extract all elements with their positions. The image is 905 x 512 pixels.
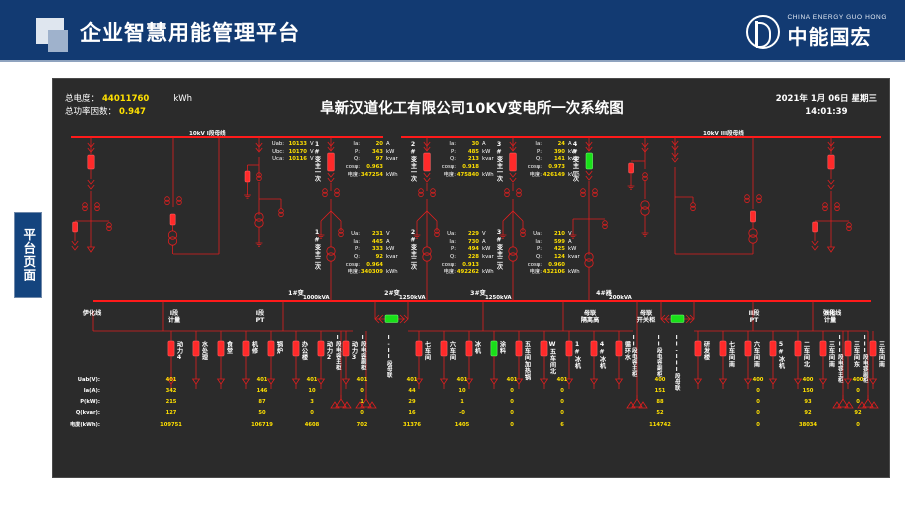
meter-secondary-1-key-5: 电度: [441,269,456,277]
meter-primary-2-value-4: 426149 [542,172,568,180]
row-header: 电度(kWh): [59,419,105,431]
row-header: Q(kvar): [59,408,105,419]
table-cell: 92 [833,408,883,419]
table-cell: 38034 [783,419,833,431]
meter-primary-0-unit-0: A [386,141,390,147]
table-cell: 92 [783,408,833,419]
meter-secondary-2-value-3: 124 [542,254,568,262]
meter-primary-1-value-0: 30 [456,141,482,149]
meter-secondary-0-key-5: 电度: [345,269,360,277]
table-cell: 401 [437,374,487,385]
table-cell: 10 [437,385,487,396]
table-cell: -0 [437,408,487,419]
meter-primary-0-key-2: Q: [345,156,360,164]
meter-primary-1-unit-0: A [482,141,486,147]
table-cell: 106719 [237,419,287,431]
table-cell: 400 [733,374,783,385]
meter-primary-2-unit-4: kWh [568,172,580,178]
label-t3-primary: 3#变主一次 [495,141,502,183]
table-cell: 6 [537,419,587,431]
table-cell: 92 [883,408,890,419]
meter-primary-1-row-1: P:485kW [441,149,494,157]
meter-primary-2-value-3: 0.973 [542,164,568,172]
table-cell: 93 [783,396,833,407]
meter-secondary-0-value-3: 92 [360,254,386,262]
feeder-label-section1-metering: I段计量 [153,311,195,324]
pt-meter-unit-1: V [310,149,314,155]
meter-secondary-1-unit-5: kWh [482,269,494,275]
meter-secondary-0-row-0: Ua:231V [345,231,398,239]
table-cell: 29 [387,396,437,407]
meter-secondary-1-unit-1: A [482,239,486,245]
feeder-measurements-table: Uab(V):401401401401401401401401400400400… [59,374,885,431]
meter-secondary-2-unit-1: A [568,239,572,245]
pt-meter-value-1: 10170 [284,149,310,157]
meter-secondary-2-row-3: Q:124kvar [527,254,580,262]
meter-primary-1-row-0: Ia:30A [441,141,494,149]
table-cell: 400 [587,374,733,385]
table-cell: 0 [337,408,387,419]
meter-secondary-1-key-0: Ua: [441,231,456,239]
meter-secondary-1-value-0: 229 [456,231,482,239]
table-cell: 88 [587,396,733,407]
table-cell: 401 [237,374,287,385]
brand-chinese-name: 中能国宏 [787,21,887,50]
table-cell: 0 [337,385,387,396]
meter-secondary-1-key-2: P: [441,246,456,254]
row-header: Uab(V): [59,374,105,385]
meter-secondary-1-value-5: 492262 [456,269,482,277]
meter-t1-primary: Ia:20AP:343kWQ:97kvarcosφ:0.963电度:347254… [345,141,398,179]
table-cell: 1405 [437,419,487,431]
meter-t1-secondary: Ua:231VIa:445AP:333kWQ:92kvarcosφ:0.964电… [345,231,398,277]
table-cell: 400 [883,374,890,385]
feeder-label-section1-pt: I段PT [239,311,281,324]
feeder-label-tie-switchgear: 母联开关柜 [625,311,667,324]
meter-primary-0-key-1: P: [345,149,360,157]
meter-primary-1-row-4: 电度:475840kWh [441,172,494,180]
meter-secondary-1-row-2: P:494kW [441,246,494,254]
table-cell: 0 [883,396,890,407]
meter-primary-1-key-3: cosφ: [441,164,456,172]
meter-primary-0-key-0: Ia: [345,141,360,149]
meter-secondary-1-row-0: Ua:229V [441,231,494,239]
meter-secondary-2-value-4: 0.960 [542,262,568,270]
transformer-name-1: 1#变 [285,291,307,298]
meter-primary-1-unit-1: kW [482,149,490,155]
pt-meter-row-1: Ubc:10170V [269,149,314,157]
pt-meter-unit-0: V [310,141,314,147]
meter-secondary-1-value-1: 730 [456,239,482,247]
meter-t2-secondary: Ua:229VIa:730AP:494kWQ:228kvarcosφ:0.913… [441,231,494,277]
meter-primary-2-unit-1: kW [568,149,576,155]
label-t2-secondary: 2#变主二次 [409,229,416,271]
meter-secondary-0-key-3: Q: [345,254,360,262]
table-cell: 0 [733,396,783,407]
table-cell: 400 [833,374,883,385]
table-cell: 87 [237,396,287,407]
meter-secondary-1-value-4: 0.913 [456,262,482,270]
table-cell: 114742 [587,419,733,431]
meter-secondary-1-unit-3: kvar [482,254,494,260]
meter-secondary-2-unit-2: kW [568,246,576,252]
meter-primary-2-row-1: P:390kW [527,149,580,157]
meter-secondary-0-key-1: Ia: [345,239,360,247]
meter-secondary-0-unit-5: kWh [386,269,398,275]
meter-primary-1-key-1: P: [441,149,456,157]
meter-primary-0-row-0: Ia:20A [345,141,398,149]
guohong-circle-logo-icon [746,15,780,49]
sld-diagram-canvas: 总电度：44011760kWh 总功率因数：0.947 阜新汉道化工有限公司10… [52,78,890,478]
pt-meter-row-0: Uab:10133V [269,141,314,149]
meter-secondary-2-key-5: 电度: [527,269,542,277]
brand-english-name: CHINA ENERGY GUO HONG [787,14,887,21]
meter-primary-0-unit-2: kvar [386,156,398,162]
table-cell: 0 [487,408,537,419]
meter-primary-2-key-1: P: [527,149,542,157]
meter-primary-1-unit-4: kWh [482,172,494,178]
meter-primary-0-key-4: 电度: [345,172,360,180]
meter-secondary-2-key-0: Ua: [527,231,542,239]
meter-secondary-2-row-5: 电度:432106kWh [527,269,580,277]
pt-meter-row-2: Uca:10116V [269,156,314,164]
meter-secondary-2-unit-5: kWh [568,269,580,275]
meter-primary-2-unit-0: A [568,141,572,147]
feeder-label-section2-pt: II段PT [733,311,775,324]
table-cell: 150 [783,385,833,396]
meter-secondary-2-value-0: 210 [542,231,568,239]
meter-primary-1-key-0: Ia: [441,141,456,149]
pt-voltage-meter: Uab:10133VUbc:10170VUca:10116V [269,141,314,164]
meter-secondary-0-unit-3: kvar [386,254,398,260]
meter-secondary-1-unit-0: V [482,231,486,237]
meter-secondary-1-key-1: Ia: [441,239,456,247]
feeder-label-tie-isolator: 母联隔离高 [569,311,611,324]
table-cell: 0 [833,396,883,407]
meter-primary-1-value-2: 213 [456,156,482,164]
meter-secondary-0-value-5: 340309 [360,269,386,277]
meter-secondary-1-unit-2: kW [482,246,490,252]
meter-primary-1-key-2: Q: [441,156,456,164]
meter-primary-0-value-1: 343 [360,149,386,157]
meter-primary-0-unit-1: kW [386,149,394,155]
meter-primary-0-row-3: cosφ:0.963 [345,164,398,172]
meter-secondary-0-key-2: P: [345,246,360,254]
meter-secondary-2-value-1: 599 [542,239,568,247]
meter-primary-0-value-0: 20 [360,141,386,149]
table-cell: 151 [587,385,733,396]
table-cell: 146 [237,385,287,396]
table-cell: 215 [105,396,237,407]
meter-secondary-2-row-0: Ua:210V [527,231,580,239]
meter-primary-2-key-2: Q: [527,156,542,164]
meter-secondary-2-key-1: Ia: [527,239,542,247]
meter-secondary-2-unit-0: V [568,231,572,237]
table-cell: 401 [287,374,337,385]
meter-secondary-0-value-1: 445 [360,239,386,247]
table-cell: 0 [733,385,783,396]
measurements-grid: Uab(V):401401401401401401401401400400400… [59,374,890,431]
transformer-name-4: 4#器 [593,291,615,298]
table-cell: 52 [587,408,733,419]
pt-meter-key-1: Ubc: [269,149,284,157]
meter-primary-2-row-2: Q:141kvar [527,156,580,164]
meter-secondary-1-value-2: 494 [456,246,482,254]
table-cell: 401 [537,374,587,385]
table-cell: 0 [487,396,537,407]
meter-secondary-0-key-0: Ua: [345,231,360,239]
meter-primary-2-key-0: Ia: [527,141,542,149]
meter-secondary-0-value-0: 231 [360,231,386,239]
meter-primary-0-key-3: cosφ: [345,164,360,172]
label-t2-primary: 2#变主一次 [409,141,416,183]
meter-secondary-1-key-3: Q: [441,254,456,262]
feeder-label-yihua: 伊化线 [71,311,113,318]
pt-meter-key-2: Uca: [269,156,284,164]
table-cell: 0 [883,385,890,396]
transformer-name-2: 2#变 [381,291,403,298]
meter-primary-1-row-3: cosφ:0.918 [441,164,494,172]
feeder-label-zhanghua: 张化线 [811,311,853,318]
meter-secondary-2-row-1: Ia:599A [527,239,580,247]
table-cell: 0 [883,419,890,431]
meter-secondary-2-value-2: 425 [542,246,568,254]
pt-meter-key-0: Uab: [269,141,284,149]
table-cell: 3 [287,396,337,407]
meter-primary-2-row-3: cosφ:0.973 [527,164,580,172]
meter-secondary-1-row-3: Q:228kvar [441,254,494,262]
meter-primary-1-value-3: 0.918 [456,164,482,172]
meter-t3-primary: Ia:24AP:390kWQ:141kvarcosφ:0.973电度:42614… [527,141,580,179]
meter-secondary-2-key-2: P: [527,246,542,254]
meter-secondary-0-row-1: Ia:445A [345,239,398,247]
meter-primary-1-value-4: 475840 [456,172,482,180]
row-header: Ia(A): [59,385,105,396]
table-cell: 44 [387,385,437,396]
meter-primary-2-key-3: cosφ: [527,164,542,172]
table-cell: 0 [833,419,883,431]
table-cell: 401 [337,374,387,385]
meter-secondary-0-row-2: P:333kW [345,246,398,254]
meter-secondary-1-value-3: 228 [456,254,482,262]
meter-primary-2-value-1: 390 [542,149,568,157]
label-t1-primary: 1#变主一次 [313,141,320,183]
meter-primary-2-unit-2: kvar [568,156,580,162]
table-row: Ia(A):3421461004410001510150001261302249… [59,385,890,396]
pt-meter-value-2: 10116 [284,156,310,164]
meter-primary-0-row-2: Q:97kvar [345,156,398,164]
table-cell: 0 [833,385,883,396]
pt-meter-unit-2: V [310,156,314,162]
table-cell: 0 [487,419,537,431]
square-logo-icon-shadow [48,30,68,52]
table-cell: 401 [105,374,237,385]
meter-primary-1-unit-2: kvar [482,156,494,162]
table-row: 电度(kWh):10975110671946087023137614050611… [59,419,890,431]
table-cell: 0 [487,385,537,396]
meter-primary-1-row-2: Q:213kvar [441,156,494,164]
table-cell: 0 [287,408,337,419]
label-t3-secondary: 3#变主二次 [495,229,502,271]
table-row: Uab(V):401401401401401401401401400400400… [59,374,890,385]
label-t1-secondary: 1#变主二次 [313,229,320,271]
meter-primary-2-value-0: 24 [542,141,568,149]
table-cell: 401 [387,374,437,385]
table-cell: 31376 [387,419,437,431]
meter-primary-0-value-2: 97 [360,156,386,164]
table-cell: 0 [537,385,587,396]
meter-secondary-2-unit-3: kvar [568,254,580,260]
application-root: 企业智慧用能管理平台 CHINA ENERGY GUO HONG 中能国宏 平台… [0,0,905,512]
meter-secondary-2-key-3: Q: [527,254,542,262]
meter-primary-2-row-0: Ia:24A [527,141,580,149]
meter-secondary-1-row-5: 电度:492262kWh [441,269,494,277]
meter-secondary-0-unit-1: A [386,239,390,245]
meter-secondary-0-value-2: 333 [360,246,386,254]
table-row: P(kW):2158731291008809300765112152201310… [59,396,890,407]
meter-t2-primary: Ia:30AP:485kWQ:213kvarcosφ:0.918电度:47584… [441,141,494,179]
table-cell: 0 [537,396,587,407]
meter-primary-2-row-4: 电度:426149kWh [527,172,580,180]
table-cell: 1 [437,396,487,407]
meter-secondary-0-row-3: Q:92kvar [345,254,398,262]
meter-primary-0-row-4: 电度:347254kWh [345,172,398,180]
table-cell: 50 [237,408,287,419]
meter-primary-0-unit-4: kWh [386,172,398,178]
table-cell: 4608 [287,419,337,431]
row-header: P(kW): [59,396,105,407]
meter-secondary-0-unit-2: kW [386,246,394,252]
table-cell: 16 [387,408,437,419]
brand-block: CHINA ENERGY GUO HONG 中能国宏 [746,12,887,52]
meter-primary-1-key-4: 电度: [441,172,456,180]
table-cell: 10 [287,385,337,396]
table-row: Q(kvar):127500016-0005209292924574954151… [59,408,890,419]
table-cell: 127 [105,408,237,419]
table-cell: 0 [733,419,783,431]
meter-secondary-2-row-2: P:425kW [527,246,580,254]
table-cell: 342 [105,385,237,396]
meter-secondary-0-value-4: 0.964 [360,262,386,270]
meter-primary-1-value-1: 485 [456,149,482,157]
table-cell: 1 [337,396,387,407]
meter-t3-secondary: Ua:210VIa:599AP:425kWQ:124kvarcosφ:0.960… [527,231,580,277]
meter-secondary-0-row-5: 电度:340309kWh [345,269,398,277]
table-cell: 0 [537,408,587,419]
meter-secondary-0-unit-0: V [386,231,390,237]
meter-primary-2-value-2: 141 [542,156,568,164]
meter-secondary-1-row-1: Ia:730A [441,239,494,247]
page-title: 企业智慧用能管理平台 [80,17,300,47]
table-cell: 401 [487,374,537,385]
table-cell: 400 [783,374,833,385]
pt-meter-value-0: 10133 [284,141,310,149]
meter-primary-0-value-3: 0.963 [360,164,386,172]
table-cell: 0 [733,408,783,419]
table-cell: 109751 [105,419,237,431]
table-cell: 702 [337,419,387,431]
meter-primary-0-row-1: P:343kW [345,149,398,157]
transformer-name-3: 3#变 [467,291,489,298]
meter-primary-2-key-4: 电度: [527,172,542,180]
sidebar-item-platform-page[interactable]: 平台页面 [14,212,42,298]
meter-secondary-2-value-5: 432106 [542,269,568,277]
app-header: 企业智慧用能管理平台 CHINA ENERGY GUO HONG 中能国宏 [0,0,905,62]
meter-primary-0-value-4: 347254 [360,172,386,180]
